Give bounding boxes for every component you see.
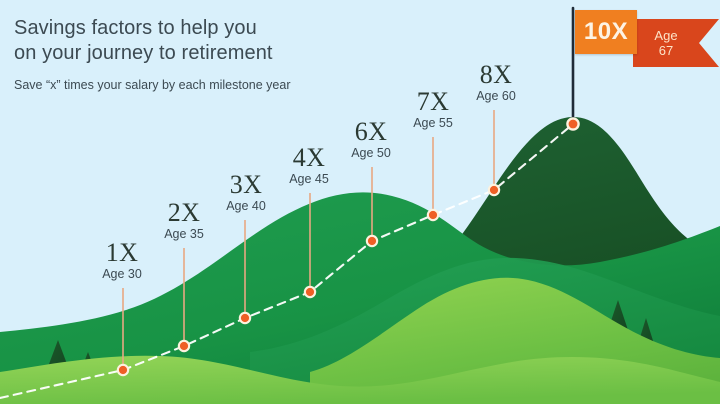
milestone-age-6x: Age 50	[351, 146, 391, 161]
milestone-multiple-4x: 4X	[289, 144, 329, 171]
milestone-age-1x: Age 30	[102, 267, 142, 282]
page-title: Savings factors to help you on your jour…	[14, 16, 291, 66]
milestone-marker-10x[interactable]	[566, 117, 580, 131]
milestone-multiple-8x: 8X	[476, 61, 516, 88]
milestone-multiple-2x: 2X	[164, 199, 204, 226]
milestone-label-3x: 3X Age 40	[226, 171, 266, 214]
milestone-marker-2x[interactable]	[178, 340, 190, 352]
milestone-label-2x: 2X Age 35	[164, 199, 204, 242]
infographic-canvas: Savings factors to help you on your jour…	[0, 0, 720, 404]
flag-age-value: 67	[659, 43, 673, 58]
milestone-marker-4x[interactable]	[304, 286, 316, 298]
milestone-age-8x: Age 60	[476, 89, 516, 104]
milestone-label-4x: 4X Age 45	[289, 144, 329, 187]
flag-age-label: Age	[654, 28, 677, 43]
milestone-age-2x: Age 35	[164, 227, 204, 242]
milestone-label-1x: 1X Age 30	[102, 239, 142, 282]
header-block: Savings factors to help you on your jour…	[14, 16, 291, 93]
milestone-multiple-1x: 1X	[102, 239, 142, 266]
milestone-marker-1x[interactable]	[117, 364, 129, 376]
milestone-marker-8x[interactable]	[488, 184, 500, 196]
milestone-age-4x: Age 45	[289, 172, 329, 187]
milestone-label-7x: 7X Age 55	[413, 88, 453, 131]
milestone-age-3x: Age 40	[226, 199, 266, 214]
flag-multiple-value: 10X	[584, 18, 628, 46]
flag-age-block: Age 67	[633, 19, 719, 67]
milestone-marker-3x[interactable]	[239, 312, 251, 324]
milestone-marker-7x[interactable]	[427, 209, 439, 221]
milestone-multiple-7x: 7X	[413, 88, 453, 115]
milestone-multiple-3x: 3X	[226, 171, 266, 198]
milestone-label-8x: 8X Age 60	[476, 61, 516, 104]
flag-multiple-panel: 10X	[575, 10, 637, 54]
milestone-marker-6x[interactable]	[366, 235, 378, 247]
milestone-multiple-6x: 6X	[351, 118, 391, 145]
page-subtitle: Save “x” times your salary by each miles…	[14, 77, 291, 93]
summit-flag[interactable]: Age 67 10X	[575, 10, 720, 68]
milestone-label-6x: 6X Age 50	[351, 118, 391, 161]
milestone-age-7x: Age 55	[413, 116, 453, 131]
